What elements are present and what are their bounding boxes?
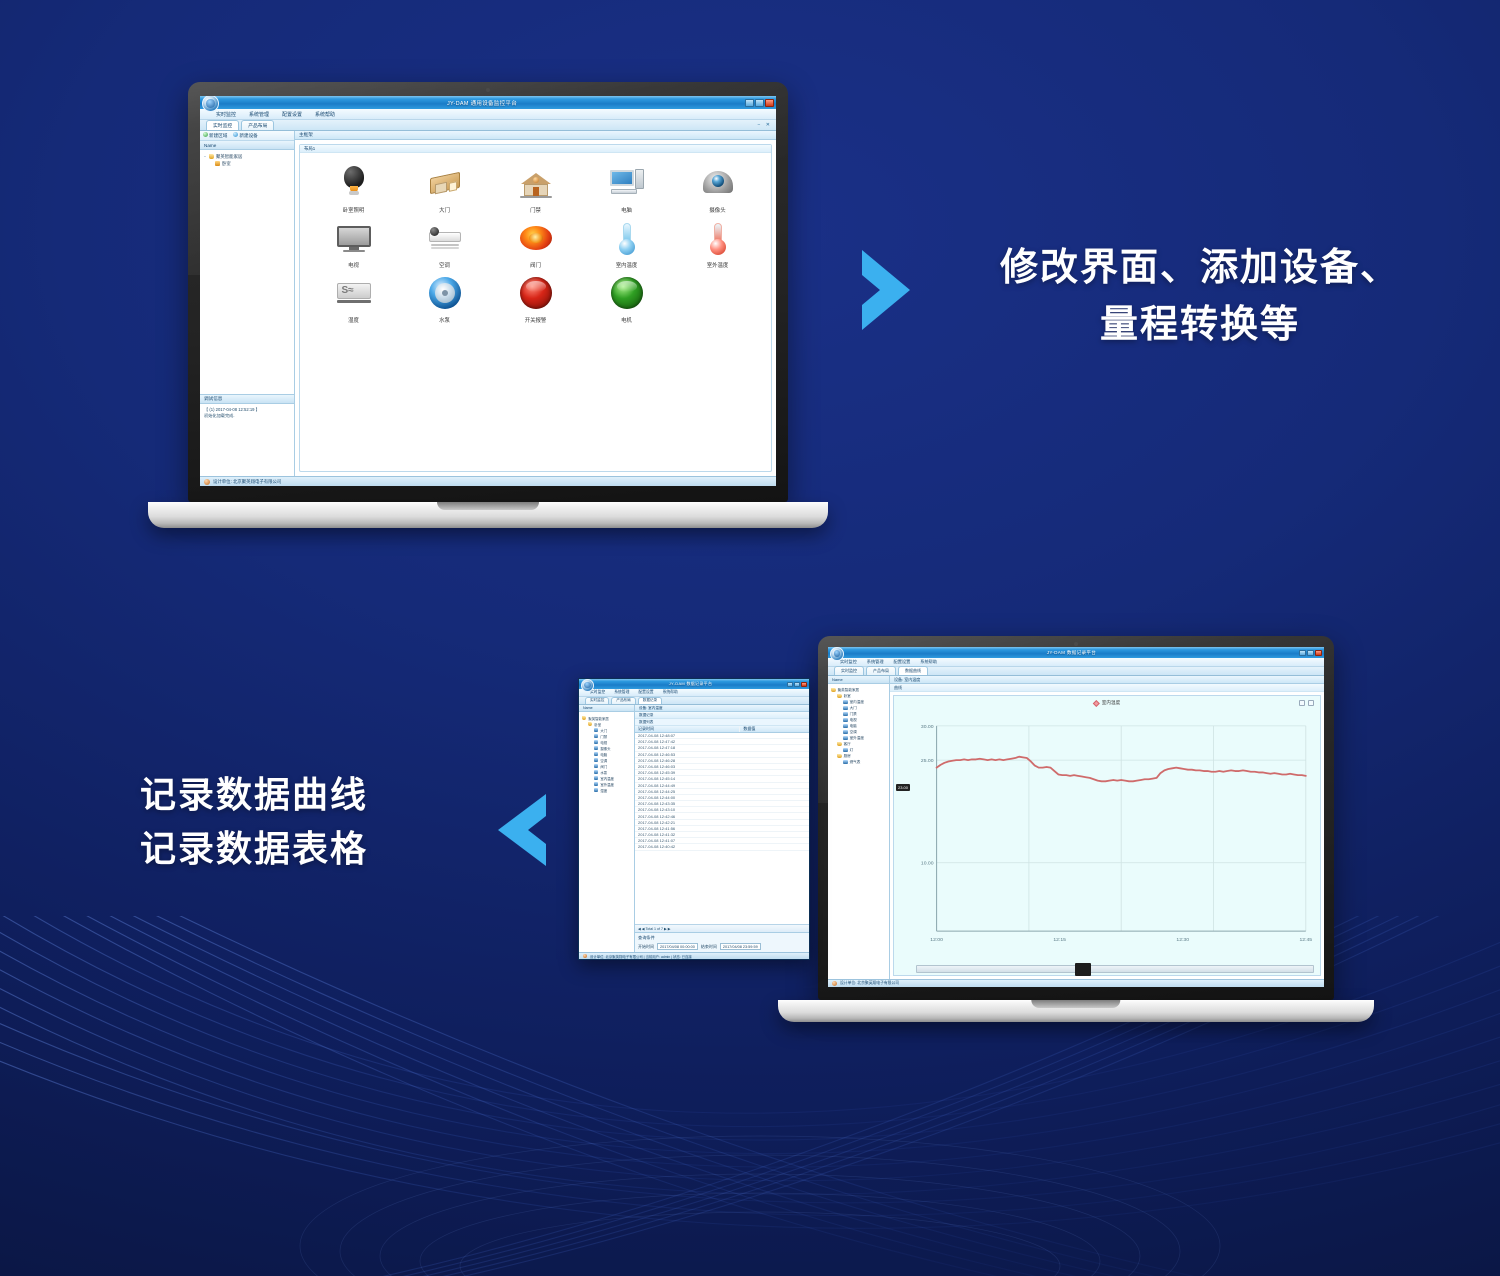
cell-time: 2017-04-08 12:46:03	[635, 764, 739, 769]
maximize-button[interactable]	[794, 682, 800, 687]
data-chart[interactable]: 室内温度 30.0025.0010.0012:0012:1512:3012:45…	[893, 695, 1321, 976]
tree-item-label: 聚英智能家居	[216, 154, 242, 160]
tree-item-label: 厨房	[844, 754, 851, 759]
query-filter: 查询条件 开始时间 2017/04/08 00:00:00 结束时间 2017/…	[635, 932, 809, 952]
tree-item-bedroom[interactable]: 卧室	[203, 160, 294, 167]
add-area-icon	[203, 132, 208, 137]
start-time-input[interactable]: 2017/04/08 00:00:00	[657, 943, 698, 950]
device-sidebar: 新建区域 新建设备 Name − 聚英智能家居	[200, 131, 295, 476]
window-body: 新建区域 新建设备 Name − 聚英智能家居	[200, 131, 776, 476]
tree-item-label: 门禁	[600, 734, 607, 739]
tree-item-label: 湿度	[600, 788, 607, 793]
device-label: 水泵	[439, 316, 450, 324]
chart-plot: 30.0025.0010.0012:0012:1512:3012:45	[894, 696, 1320, 975]
window-body: Name 聚英智能家居卧室大门门禁电视摄像头电脑空调阀门水泵室内温度室外温度湿度…	[579, 705, 809, 952]
gate-icon	[425, 163, 465, 203]
laptop-base	[778, 1000, 1374, 1022]
content-panel: 主框架 布局1 卧室照明	[295, 131, 776, 476]
tree-column-header: Name	[579, 705, 634, 712]
chevron-left-icon	[484, 790, 556, 870]
device-tile-tv[interactable]: 电视	[308, 218, 399, 269]
company-icon	[832, 981, 837, 986]
company-icon	[583, 954, 587, 958]
folder-icon	[837, 694, 842, 699]
device-icon	[594, 788, 598, 792]
tree-item[interactable]: 湿度	[582, 787, 634, 793]
cell-time: 2017-04-08 12:48:07	[635, 733, 739, 738]
tab-strip: 实时监控 产品布局 数据记录	[579, 697, 809, 705]
menu-item-help[interactable]: 系统帮助	[663, 690, 678, 695]
records-table: 记录时间 数据值 2017-04-08 12:48:072017-04-08 1…	[635, 726, 809, 932]
tree-item-label: 聚英智能家居	[588, 716, 608, 721]
device-label: 电视	[348, 261, 359, 269]
outdoor-temperature-icon	[698, 218, 738, 258]
status-bar: 设计单位: 北京聚英翔电子有限公司	[200, 476, 776, 486]
device-tile-motor[interactable]: 电机	[581, 273, 672, 324]
valve-icon	[516, 218, 556, 258]
tree-item-label: 室外温度	[850, 736, 864, 741]
laptop-screen: JY-DAM 通用设备监控平台 实时监控 系统管理 配置设置 系统帮助 实时监控	[200, 96, 776, 486]
breadcrumb: 设备: 室内温度	[635, 705, 809, 712]
promo-text-block-1: 修改界面、添加设备、 量程转换等	[930, 240, 1470, 354]
tree-item-label: 卧室	[594, 722, 601, 727]
group-title: 布局1	[300, 145, 771, 153]
new-device-label: 新建设备	[239, 133, 257, 138]
promo-line-2: 量程转换等	[930, 297, 1470, 354]
promo-line-1: 记录数据曲线	[140, 768, 470, 822]
tab-realtime[interactable]: 实时监控	[834, 666, 864, 676]
tree-item-label: 室内温度	[850, 700, 864, 705]
tree-item-label: 大门	[600, 728, 607, 733]
cell-time: 2017-04-08 12:43:35	[635, 801, 739, 806]
tree-item-label: 门禁	[850, 712, 857, 717]
device-label: 湿度	[348, 316, 359, 324]
device-icon	[594, 734, 598, 738]
end-time-input[interactable]: 2017/04/08 23:59:59	[720, 943, 761, 950]
computer-icon	[607, 163, 647, 203]
menu-bar: 实时监控 系统管理 配置设置 系统帮助	[579, 689, 809, 697]
tree-expander-icon[interactable]: −	[203, 154, 207, 159]
cell-time: 2017-04-08 12:46:28	[635, 758, 739, 763]
tree-item-label: 卧室	[844, 694, 851, 699]
menu-item-realtime[interactable]: 实时监控	[590, 690, 605, 695]
alarm-switch-icon	[516, 273, 556, 313]
tree-column-header: Name	[828, 676, 889, 684]
chart-scrollbar[interactable]	[916, 965, 1314, 973]
close-button[interactable]	[1315, 650, 1322, 656]
device-icon	[215, 161, 220, 166]
folder-icon	[837, 754, 842, 759]
menu-item-realtime[interactable]: 实时监控	[216, 111, 236, 118]
cell-time: 2017-04-08 12:47:18	[635, 745, 739, 750]
device-icon	[843, 760, 848, 765]
tab-layout[interactable]: 产品布局	[241, 120, 274, 131]
device-icon	[594, 776, 598, 780]
svg-text:25.00: 25.00	[921, 758, 934, 764]
cell-time: 2017-04-08 12:43:10	[635, 807, 739, 812]
svg-text:12:15: 12:15	[1053, 937, 1066, 943]
webcam-icon	[486, 88, 490, 92]
chart-scroll-thumb[interactable]	[1075, 963, 1091, 976]
device-icon-grid: 卧室照明 大门	[300, 153, 771, 334]
tree-item-label: 电脑	[600, 752, 607, 757]
device-icon	[594, 764, 598, 768]
cell-time: 2017-04-08 12:41:56	[635, 826, 739, 831]
device-tile-water-pump[interactable]: 水泵	[399, 273, 490, 324]
app-window-table: JY-DAM 数据记录平台 实时监控 系统管理 配置设置 系统帮助 实时监控 产…	[579, 679, 809, 959]
window-title: JY-DAM 数据记录平台	[844, 650, 1299, 656]
folder-icon	[582, 716, 586, 720]
device-tile-alarm-switch[interactable]: 开关报警	[490, 273, 581, 324]
motor-icon	[607, 273, 647, 313]
pager-label: ◀ ◀ Total 1 of 7 ▶ ▶	[638, 927, 671, 931]
status-bar: 设计单位: 北京聚英翔电子有限公司	[828, 979, 1324, 987]
new-device-button[interactable]: 新建设备	[233, 132, 257, 139]
device-tree: − 聚英智能家居 卧室	[200, 150, 294, 394]
device-label: 室外温度	[707, 261, 729, 269]
end-time-label: 结束时间	[701, 944, 717, 950]
folder-icon	[837, 742, 842, 747]
window-data-table: JY-DAM 数据记录平台 实时监控 系统管理 配置设置 系统帮助 实时监控 产…	[578, 678, 810, 960]
tree-item-label: 电脑	[850, 724, 857, 729]
device-label: 室内温度	[616, 261, 638, 269]
sub-title: 数据列表	[635, 719, 809, 726]
new-area-label: 新建区域	[209, 133, 227, 138]
cell-time: 2017-04-08 12:45:14	[635, 776, 739, 781]
air-conditioner-icon	[425, 218, 465, 258]
layout-group: 布局1 卧室照明	[299, 144, 772, 472]
tab-records[interactable]: 数据记录	[638, 697, 662, 705]
cell-time: 2017-04-08 12:47:42	[635, 739, 739, 744]
menu-item-system[interactable]: 系统管理	[614, 690, 629, 695]
content-header: 主框架	[295, 131, 776, 140]
menu-item-config[interactable]: 配置设置	[894, 659, 911, 665]
company-icon	[204, 479, 210, 485]
device-tile-computer[interactable]: 电脑	[581, 163, 672, 214]
device-icon	[594, 746, 598, 750]
menu-bar: 实时监控 系统管理 配置设置 系统帮助	[200, 109, 776, 120]
add-device-icon	[233, 132, 238, 137]
cell-time: 2017-04-08 12:41:07	[635, 838, 739, 843]
log-body: 【 (1) 2017-04-08 12:52:19 】 初始化加载完成.	[200, 404, 294, 422]
cell-time: 2017-04-08 12:42:46	[635, 814, 739, 819]
window-controls	[1299, 650, 1324, 656]
device-icon	[594, 728, 598, 732]
title-bar: JY-DAM 数据记录平台	[579, 679, 809, 689]
tree-item-label: 摄像头	[600, 746, 610, 751]
cell-time: 2017-04-08 12:45:39	[635, 770, 739, 775]
content-panel: 设备: 室内温度 曲线 室内温度 30.0025.0010.001	[890, 676, 1324, 979]
app-logo-icon[interactable]	[830, 647, 844, 661]
device-icon	[843, 730, 848, 735]
tree-item-label: 室外温度	[600, 782, 614, 787]
device-tile-gate[interactable]: 大门	[399, 163, 490, 214]
title-bar: JY-DAM 通用设备监控平台	[200, 96, 776, 109]
cell-time: 2017-04-08 12:40:42	[635, 844, 739, 849]
device-tile-valve[interactable]: 阀门	[490, 218, 581, 269]
filter-controls: 开始时间 2017/04/08 00:00:00 结束时间 2017/04/08…	[638, 943, 806, 950]
folder-icon	[831, 688, 836, 693]
device-tile-indoor-temperature[interactable]: 室内温度	[581, 218, 672, 269]
menu-item-help[interactable]: 系统帮助	[315, 111, 335, 118]
tree-item-label: 室内温度	[600, 776, 614, 781]
laptop-base	[148, 502, 828, 528]
section-title: 曲线	[890, 684, 1324, 692]
lamp-icon	[334, 163, 374, 203]
device-tile-air-conditioner[interactable]: 空调	[399, 218, 490, 269]
promo-text-block-2: 记录数据曲线 记录数据表格	[140, 768, 470, 876]
device-icon	[843, 712, 848, 717]
tab-layout[interactable]: 产品布局	[611, 697, 635, 705]
status-bar: 设计单位: 北京聚英翔电子有限公司 | 当前用户: admin | 状态: 已连…	[579, 952, 809, 959]
tree-item-label: 阀门	[600, 764, 607, 769]
folder-icon	[209, 154, 214, 159]
new-area-button[interactable]: 新建区域	[203, 132, 227, 139]
tab-layout[interactable]: 产品布局	[866, 666, 896, 676]
status-text: 设计单位: 北京聚英翔电子有限公司	[840, 981, 899, 986]
tree-column-header: Name	[200, 141, 294, 150]
menu-item-system[interactable]: 系统管理	[867, 659, 884, 665]
webcam-icon	[1074, 642, 1078, 646]
tv-icon	[334, 218, 374, 258]
device-label: 门禁	[530, 206, 541, 214]
device-label: 大门	[439, 206, 450, 214]
window-title: JY-DAM 数据记录平台	[594, 681, 787, 687]
humidity-icon: S≈	[334, 273, 374, 313]
window-body: Name 聚英智能家居卧室室内温度大门门禁电视电脑空调室外温度客厅灯厨房燃气表 …	[828, 676, 1324, 979]
app-window-chart: JY-DAM 数据记录平台 实时监控 系统管理 配置设置 系统帮助 实时监控 产…	[828, 647, 1324, 987]
tree-item-label: 电视	[600, 740, 607, 745]
sidebar-toolbar: 新建区域 新建设备	[200, 131, 294, 141]
tree-item-label: 电视	[850, 718, 857, 723]
device-label: 开关报警	[525, 316, 547, 324]
device-label: 阀门	[530, 261, 541, 269]
close-button[interactable]	[765, 99, 774, 107]
tree-item-label: 聚英智能家居	[838, 688, 860, 693]
tree-item-label: 燃气表	[850, 760, 861, 765]
tree-item-label: 空调	[600, 758, 607, 763]
tree-item[interactable]: 燃气表	[831, 759, 889, 765]
cell-time: 2017-04-08 12:44:00	[635, 795, 739, 800]
log-line: 初始化加载完成.	[204, 413, 290, 419]
tree-item-label: 卧室	[222, 161, 231, 167]
window-title: JY-DAM 通用设备监控平台	[219, 99, 745, 107]
table-header-row: 记录时间 数据值	[635, 726, 809, 733]
device-icon	[594, 740, 598, 744]
tab-curve[interactable]: 数据曲线	[898, 666, 928, 676]
device-tile-access-control[interactable]: 门禁	[490, 163, 581, 214]
device-tree: 聚英智能家居卧室室内温度大门门禁电视电脑空调室外温度客厅灯厨房燃气表	[828, 684, 889, 979]
device-label: 电脑	[621, 206, 632, 214]
device-tile-bedroom-light[interactable]: 卧室照明	[308, 163, 399, 214]
device-icon	[843, 706, 848, 711]
content-panel: 设备: 室内温度 数据记录 数据列表 记录时间 数据值 2017-04-08 1…	[635, 705, 809, 952]
app-window-monitoring: JY-DAM 通用设备监控平台 实时监控 系统管理 配置设置 系统帮助 实时监控	[200, 96, 776, 486]
svg-text:12:30: 12:30	[1176, 937, 1189, 943]
title-bar: JY-DAM 数据记录平台	[828, 647, 1324, 658]
section-title: 数据记录	[635, 712, 809, 719]
maximize-button[interactable]	[1307, 650, 1314, 656]
device-tile-outdoor-temperature[interactable]: 室外温度	[672, 218, 763, 269]
device-icon	[843, 718, 848, 723]
maximize-button[interactable]	[755, 99, 764, 107]
promo-line-1: 修改界面、添加设备、	[930, 240, 1470, 297]
menu-item-config[interactable]: 配置设置	[638, 690, 653, 695]
indoor-temperature-icon	[607, 218, 647, 258]
svg-text:10.00: 10.00	[921, 861, 934, 867]
table-body: 2017-04-08 12:48:072017-04-08 12:47:4220…	[635, 733, 809, 924]
cell-time: 2017-04-08 12:42:21	[635, 820, 739, 825]
close-button[interactable]	[801, 682, 807, 687]
device-label: 摄像头	[709, 206, 725, 214]
cell-time: 2017-04-08 12:46:53	[635, 752, 739, 757]
column-header-value[interactable]: 数据值	[739, 726, 809, 732]
device-sidebar: Name 聚英智能家居卧室室内温度大门门禁电视电脑空调室外温度客厅灯厨房燃气表	[828, 676, 890, 979]
access-control-icon	[516, 163, 556, 203]
filter-title: 查询条件	[638, 935, 806, 941]
svg-text:12:45: 12:45	[1299, 937, 1312, 943]
content-header: 设备: 室内温度	[890, 676, 1324, 684]
tab-strip: 实时监控 产品布局 − ✕	[200, 120, 776, 131]
tree-item-label: 空调	[850, 730, 857, 735]
tab-strip: 实时监控 产品布局 数据曲线	[828, 667, 1324, 676]
device-icon	[843, 724, 848, 729]
laptop-lid: JY-DAM 数据记录平台 实时监控 系统管理 配置设置 系统帮助 实时监控 产…	[818, 636, 1334, 1000]
minimize-button[interactable]	[1299, 650, 1306, 656]
device-icon	[594, 752, 598, 756]
start-time-label: 开始时间	[638, 944, 654, 950]
status-text: 设计单位: 北京聚英翔电子有限公司	[213, 479, 281, 485]
device-icon	[594, 782, 598, 786]
tree-item-root[interactable]: − 聚英智能家居	[203, 153, 294, 160]
tree-item-label: 大门	[850, 706, 857, 711]
tree-item-label: 水泵	[600, 770, 607, 775]
laptop-monitoring-platform: JY-DAM 通用设备监控平台 实时监控 系统管理 配置设置 系统帮助 实时监控	[188, 82, 788, 528]
cell-time: 2017-04-08 12:44:49	[635, 783, 739, 788]
svg-text:30.00: 30.00	[921, 724, 934, 730]
device-tile-humidity[interactable]: S≈ 湿度	[308, 273, 399, 324]
device-label: 卧室照明	[343, 206, 365, 214]
column-header-time[interactable]: 记录时间	[635, 726, 739, 732]
device-tile-camera[interactable]: 摄像头	[672, 163, 763, 214]
svg-text:12:00: 12:00	[930, 937, 943, 943]
device-icon	[594, 770, 598, 774]
tree-item-label: 客厅	[844, 742, 851, 747]
log-panel: 调试信息 【 (1) 2017-04-08 12:52:19 】 初始化加载完成…	[200, 394, 294, 476]
minimize-button[interactable]	[745, 99, 754, 107]
chevron-right-icon	[852, 245, 924, 335]
tab-close-actions[interactable]: − ✕	[758, 122, 773, 128]
laptop-screen: JY-DAM 数据记录平台 实时监控 系统管理 配置设置 系统帮助 实时监控 产…	[828, 647, 1324, 987]
device-icon	[843, 700, 848, 705]
laptop-lid: JY-DAM 通用设备监控平台 实时监控 系统管理 配置设置 系统帮助 实时监控	[188, 82, 788, 502]
laptop-data-chart: JY-DAM 数据记录平台 实时监控 系统管理 配置设置 系统帮助 实时监控 产…	[818, 636, 1334, 1022]
log-header: 调试信息	[200, 395, 294, 404]
tab-realtime[interactable]: 实时监控	[206, 120, 239, 131]
minimize-button[interactable]	[787, 682, 793, 687]
device-icon	[594, 758, 598, 762]
menu-item-realtime[interactable]: 实时监控	[840, 659, 857, 665]
tab-realtime[interactable]: 实时监控	[585, 697, 609, 705]
folder-icon	[588, 722, 592, 726]
cell-time: 2017-04-08 12:44:25	[635, 789, 739, 794]
cell-time: 2017-04-08 12:41:32	[635, 832, 739, 837]
device-label: 电机	[621, 316, 632, 324]
device-tree: 聚英智能家居卧室大门门禁电视摄像头电脑空调阀门水泵室内温度室外温度湿度	[579, 712, 634, 952]
window-controls	[745, 99, 776, 107]
promo-line-2: 记录数据表格	[140, 822, 470, 876]
device-sidebar: Name 聚英智能家居卧室大门门禁电视摄像头电脑空调阀门水泵室内温度室外温度湿度	[579, 705, 635, 952]
table-row[interactable]: 2017-04-08 12:40:42	[635, 844, 809, 850]
menu-item-help[interactable]: 系统帮助	[920, 659, 937, 665]
menu-item-system[interactable]: 系统管理	[249, 111, 269, 118]
device-label: 空调	[439, 261, 450, 269]
device-icon	[843, 748, 848, 753]
chart-cursor-value: 23.00	[896, 784, 910, 791]
app-logo-icon[interactable]	[581, 679, 594, 692]
table-pager[interactable]: ◀ ◀ Total 1 of 7 ▶ ▶	[635, 924, 809, 932]
menu-item-config[interactable]: 配置设置	[282, 111, 302, 118]
device-icon	[843, 736, 848, 741]
tree-item-label: 灯	[850, 748, 854, 753]
water-pump-icon	[425, 273, 465, 313]
status-text: 设计单位: 北京聚英翔电子有限公司 | 当前用户: admin | 状态: 已连…	[590, 954, 692, 959]
window-controls	[787, 682, 809, 687]
camera-icon	[698, 163, 738, 203]
